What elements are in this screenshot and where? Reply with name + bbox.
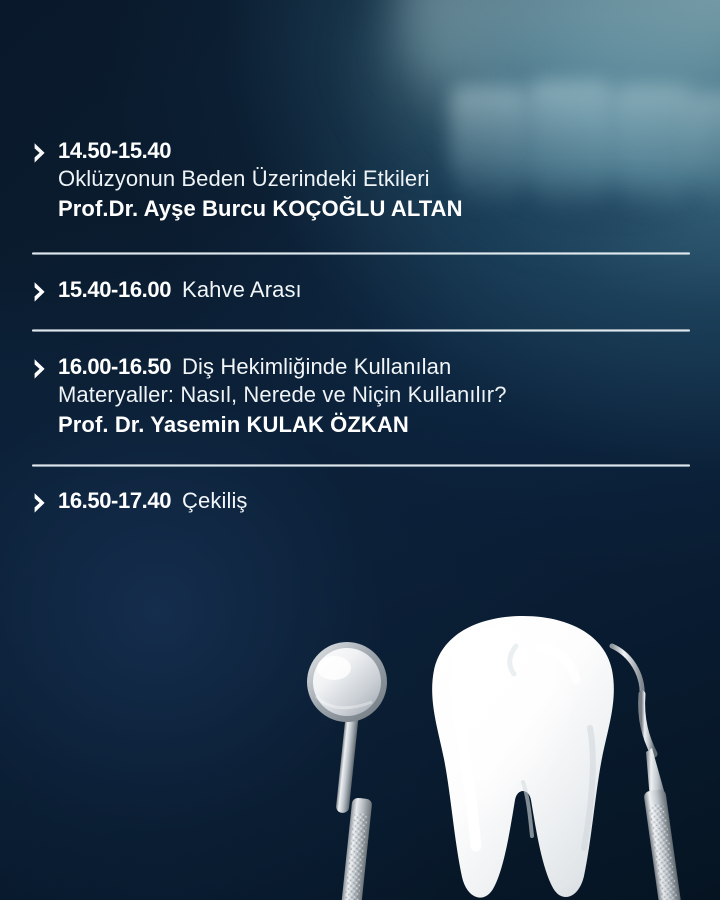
entry-time: 14.50-15.40 [58,138,171,164]
entry-title: Oklüzyonun Beden Üzerindeki Etkileri [58,164,690,193]
schedule-list: 14.50-15.40 Oklüzyonun Beden Üzerindeki … [0,138,720,516]
schedule-entry: 16.00-16.50 Diş Hekimliğinde Kullanılan … [0,354,720,440]
entry-title: Çekiliş [182,488,248,514]
dental-explorer-probe [600,628,710,900]
entry-title: Kahve Arası [182,277,302,303]
dental-illustration [0,570,720,900]
molar-tooth [412,608,634,900]
schedule-entry: 15.40-16.00 Kahve Arası [0,277,720,305]
schedule-entry: 16.50-17.40 Çekiliş [0,488,720,516]
chevron-right-icon [32,356,48,382]
dental-mirror [300,630,430,900]
entry-title-first-line: Diş Hekimliğinde Kullanılan [182,354,451,380]
entry-time: 16.00-16.50 [58,354,171,380]
entry-time: 16.50-17.40 [58,488,171,514]
schedule-poster: 14.50-15.40 Oklüzyonun Beden Üzerindeki … [0,0,720,900]
chevron-right-icon [32,490,48,516]
schedule-entry: 14.50-15.40 Oklüzyonun Beden Üzerindeki … [0,138,720,224]
entry-speaker: Prof.Dr. Ayşe Burcu KOÇOĞLU ALTAN [58,194,690,223]
entry-time: 15.40-16.00 [58,277,171,303]
background-gum-blur [400,0,720,110]
entry-speaker: Prof. Dr. Yasemin KULAK ÖZKAN [58,410,690,439]
chevron-right-icon [32,140,48,166]
entry-title: Materyaller: Nasıl, Nerede ve Niçin Kull… [58,380,690,409]
chevron-right-icon [32,279,48,305]
